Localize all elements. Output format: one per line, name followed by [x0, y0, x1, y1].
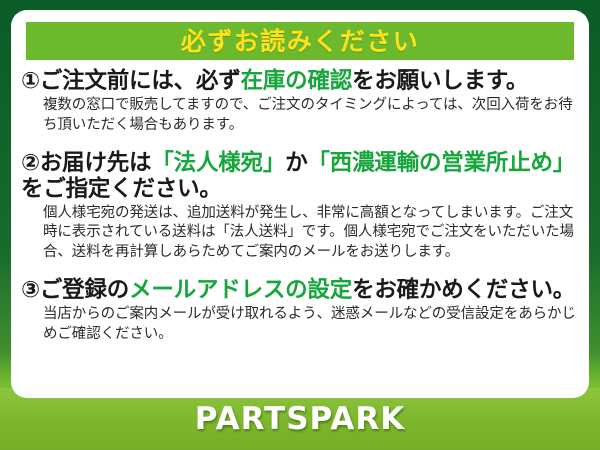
notice-item-2: ②お届け先は「法人様宛」か「西濃運輸の営業所止め」をご指定ください。 個人様宅宛… [11, 150, 589, 263]
page-title: 必ずお読みください [181, 29, 420, 54]
notice-item-list: ①ご注文前には、必ず在庫の確認をお願いします。 複数の窓口で販売してますので、ご… [11, 68, 589, 344]
notice-item-1-part-2: をお願いします。 [352, 68, 528, 94]
notice-item-3-part-1-highlight: メールアドレスの設定 [129, 277, 352, 303]
brand-name: PARTSPARK [195, 404, 406, 435]
notice-item-2-part-0: お届け先は [40, 150, 152, 176]
notice-panel: 必ずお読みください ①ご注文前には、必ず在庫の確認をお願いします。 複数の窓口で… [11, 10, 589, 398]
notice-item-1: ①ご注文前には、必ず在庫の確認をお願いします。 複数の窓口で販売してますので、ご… [11, 68, 589, 136]
frame-top-border [0, 0, 600, 10]
notice-item-1-part-1-highlight: 在庫の確認 [241, 68, 353, 94]
notice-item-2-part-1-highlight: 「法人様宛」 [151, 150, 285, 176]
notice-item-2-subtext: 個人様宅宛の発送は、追加送料が発生し、非常に高額となってしまいます。ご注文時に表… [43, 204, 581, 263]
notice-item-3: ③ご登録のメールアドレスの設定をお確かめください。 当店からのご案内メールが受け… [11, 277, 589, 345]
footer-brand: PARTSPARK [0, 396, 600, 442]
notice-item-1-marker: ① [21, 68, 40, 94]
notice-item-2-part-4: をご指定ください。 [21, 176, 222, 202]
notice-item-1-part-0: ご注文前には、必ず [40, 68, 241, 94]
notice-item-3-part-0: ご登録の [40, 277, 129, 303]
notice-item-1-subtext: 複数の窓口で販売してますので、ご注文のタイミングによっては、次回入荷をお待ち頂い… [43, 96, 581, 135]
notice-item-3-part-2: をお確かめください。 [352, 277, 575, 303]
notice-card: 必ずお読みください ①ご注文前には、必ず在庫の確認をお願いします。 複数の窓口で… [0, 0, 600, 450]
header-banner: 必ずお読みください [26, 22, 574, 60]
notice-item-2-marker: ② [21, 150, 40, 176]
notice-item-2-headline: ②お届け先は「法人様宛」か「西濃運輸の営業所止め」をご指定ください。 [21, 150, 581, 202]
notice-item-2-part-3-highlight: 「西濃運輸の営業所止め」 [308, 150, 576, 176]
frame-left-border [0, 0, 11, 450]
notice-item-3-marker: ③ [21, 277, 40, 303]
notice-item-3-subtext: 当店からのご案内メールが受け取れるよう、迷惑メールなどの受信設定をあらかじめご確… [43, 305, 581, 344]
notice-item-1-headline: ①ご注文前には、必ず在庫の確認をお願いします。 [21, 68, 581, 94]
frame-right-border [589, 0, 600, 450]
notice-item-3-headline: ③ご登録のメールアドレスの設定をお確かめください。 [21, 277, 581, 303]
notice-item-2-part-2: か [285, 150, 307, 176]
